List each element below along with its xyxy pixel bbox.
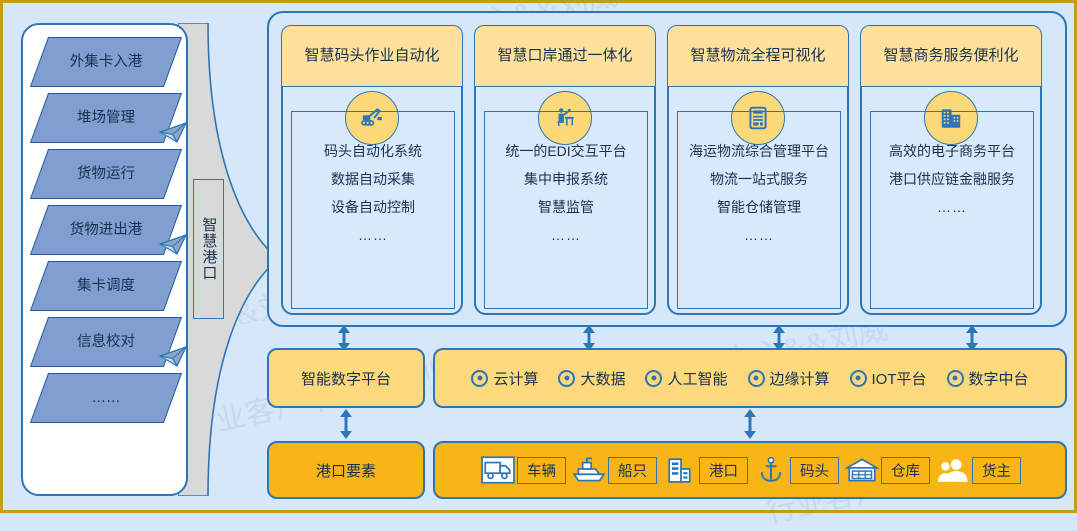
port-element-label: 港口 [699, 457, 748, 484]
bullet-icon [748, 370, 765, 387]
technology-label: 人工智能 [667, 368, 727, 389]
process-step[interactable]: 货物运行 [23, 147, 190, 203]
digital-platform-label[interactable]: 智能数字平台 [267, 348, 425, 408]
technology-label: 边缘计算 [770, 368, 830, 389]
double-arrow-connector [739, 409, 761, 439]
process-step[interactable]: …… [23, 371, 190, 427]
paper-plane-icon [159, 233, 189, 257]
technology-bar: 云计算大数据人工智能边缘计算IOT平台数字中台 [433, 348, 1067, 408]
port-element[interactable]: 港口 [661, 454, 748, 486]
paper-plane-icon [159, 345, 189, 369]
port-element[interactable]: 仓库 [843, 454, 930, 486]
process-step[interactable]: 集卡调度 [23, 259, 190, 315]
capability-item: 数据自动采集 [292, 172, 454, 186]
capability-item-list: 码头自动化系统数据自动采集设备自动控制…… [291, 111, 455, 309]
technology-label: 数字中台 [969, 368, 1029, 389]
capability-card[interactable]: 智慧物流全程可视化海运物流综合管理平台物流一站式服务智能仓储管理…… [667, 25, 849, 315]
process-step-label: 堆场管理 [39, 93, 173, 143]
bullet-icon [471, 370, 488, 387]
bullet-icon [558, 370, 575, 387]
port-process-panel: 外集卡入港堆场管理货物运行货物进出港集卡调度信息校对…… [21, 23, 188, 496]
port-element-label: 车辆 [517, 457, 566, 484]
process-step[interactable]: 堆场管理 [23, 91, 190, 147]
capability-card-title: 智慧口岸通过一体化 [474, 25, 656, 87]
capability-item: 智能仓储管理 [678, 200, 840, 214]
process-step-label: 外集卡入港 [39, 37, 173, 87]
port-element-label: 仓库 [881, 457, 930, 484]
capability-item: 物流一站式服务 [678, 172, 840, 186]
capability-card[interactable]: 智慧码头作业自动化码头自动化系统数据自动采集设备自动控制…… [281, 25, 463, 315]
diagram-root: 行业客户中心&&刘威 行业客户中心&&刘威 行业客户中心&&刘威 行业客户中心&… [0, 0, 1077, 513]
ship-icon [570, 454, 608, 486]
technology-item[interactable]: 人工智能 [645, 368, 727, 389]
technology-label: 云计算 [493, 368, 538, 389]
process-step-label: …… [39, 373, 173, 423]
port-elements-bar: 车辆船只港口码头仓库货主 [433, 441, 1067, 499]
port-elements-label[interactable]: 港口要素 [267, 441, 425, 499]
capability-item: …… [485, 228, 647, 242]
truck-icon [479, 454, 517, 486]
capability-item-list: 统一的EDI交互平台集中申报系统智慧监管…… [484, 111, 648, 309]
connector-label: 智慧港口 [193, 179, 224, 319]
technology-item[interactable]: 大数据 [558, 368, 625, 389]
capability-item: 集中申报系统 [485, 172, 647, 186]
smart-port-capabilities-container: 智慧码头作业自动化码头自动化系统数据自动采集设备自动控制…… 智慧口岸通过一体化… [267, 11, 1067, 327]
port-element-label: 码头 [790, 457, 839, 484]
process-step-label: 货物运行 [39, 149, 173, 199]
anchor-icon [752, 454, 790, 486]
capability-item: 高效的电子商务平台 [871, 144, 1033, 158]
double-arrow-connector [335, 409, 357, 439]
capability-card[interactable]: 智慧商务服务便利化高效的电子商务平台港口供应链金融服务…… [860, 25, 1042, 315]
capability-item-list: 高效的电子商务平台港口供应链金融服务…… [870, 111, 1034, 309]
process-step[interactable]: 货物进出港 [23, 203, 190, 259]
capability-item: …… [292, 228, 454, 242]
technology-item[interactable]: IOT平台 [850, 368, 927, 389]
process-step-label: 货物进出港 [39, 205, 173, 255]
port-element-label: 货主 [972, 457, 1021, 484]
people-icon [934, 454, 972, 486]
process-step[interactable]: 外集卡入港 [23, 35, 190, 91]
bullet-icon [850, 370, 867, 387]
capability-item: 智慧监管 [485, 200, 647, 214]
technology-item[interactable]: 数字中台 [947, 368, 1029, 389]
capability-item: 设备自动控制 [292, 200, 454, 214]
process-step-label: 信息校对 [39, 317, 173, 367]
technology-label: 大数据 [580, 368, 625, 389]
capability-card[interactable]: 智慧口岸通过一体化统一的EDI交互平台集中申报系统智慧监管…… [474, 25, 656, 315]
port-element-label: 船只 [608, 457, 657, 484]
port-element[interactable]: 船只 [570, 454, 657, 486]
process-step[interactable]: 信息校对 [23, 315, 190, 371]
building-icon [661, 454, 699, 486]
paper-plane-icon [159, 121, 189, 145]
capability-item: 码头自动化系统 [292, 144, 454, 158]
technology-item[interactable]: 云计算 [471, 368, 538, 389]
capability-item: 统一的EDI交互平台 [485, 144, 647, 158]
port-element[interactable]: 码头 [752, 454, 839, 486]
capability-item: 海运物流综合管理平台 [678, 144, 840, 158]
capability-card-title: 智慧码头作业自动化 [281, 25, 463, 87]
port-element[interactable]: 车辆 [479, 454, 566, 486]
bullet-icon [947, 370, 964, 387]
capability-item: …… [871, 200, 1033, 214]
capability-item: …… [678, 228, 840, 242]
capability-card-title: 智慧商务服务便利化 [860, 25, 1042, 87]
bullet-icon [645, 370, 662, 387]
technology-label: IOT平台 [872, 368, 927, 389]
capability-card-title: 智慧物流全程可视化 [667, 25, 849, 87]
port-element[interactable]: 货主 [934, 454, 1021, 486]
process-step-label: 集卡调度 [39, 261, 173, 311]
capability-item: 港口供应链金融服务 [871, 172, 1033, 186]
warehouse-icon [843, 454, 881, 486]
technology-item[interactable]: 边缘计算 [748, 368, 830, 389]
capability-item-list: 海运物流综合管理平台物流一站式服务智能仓储管理…… [677, 111, 841, 309]
